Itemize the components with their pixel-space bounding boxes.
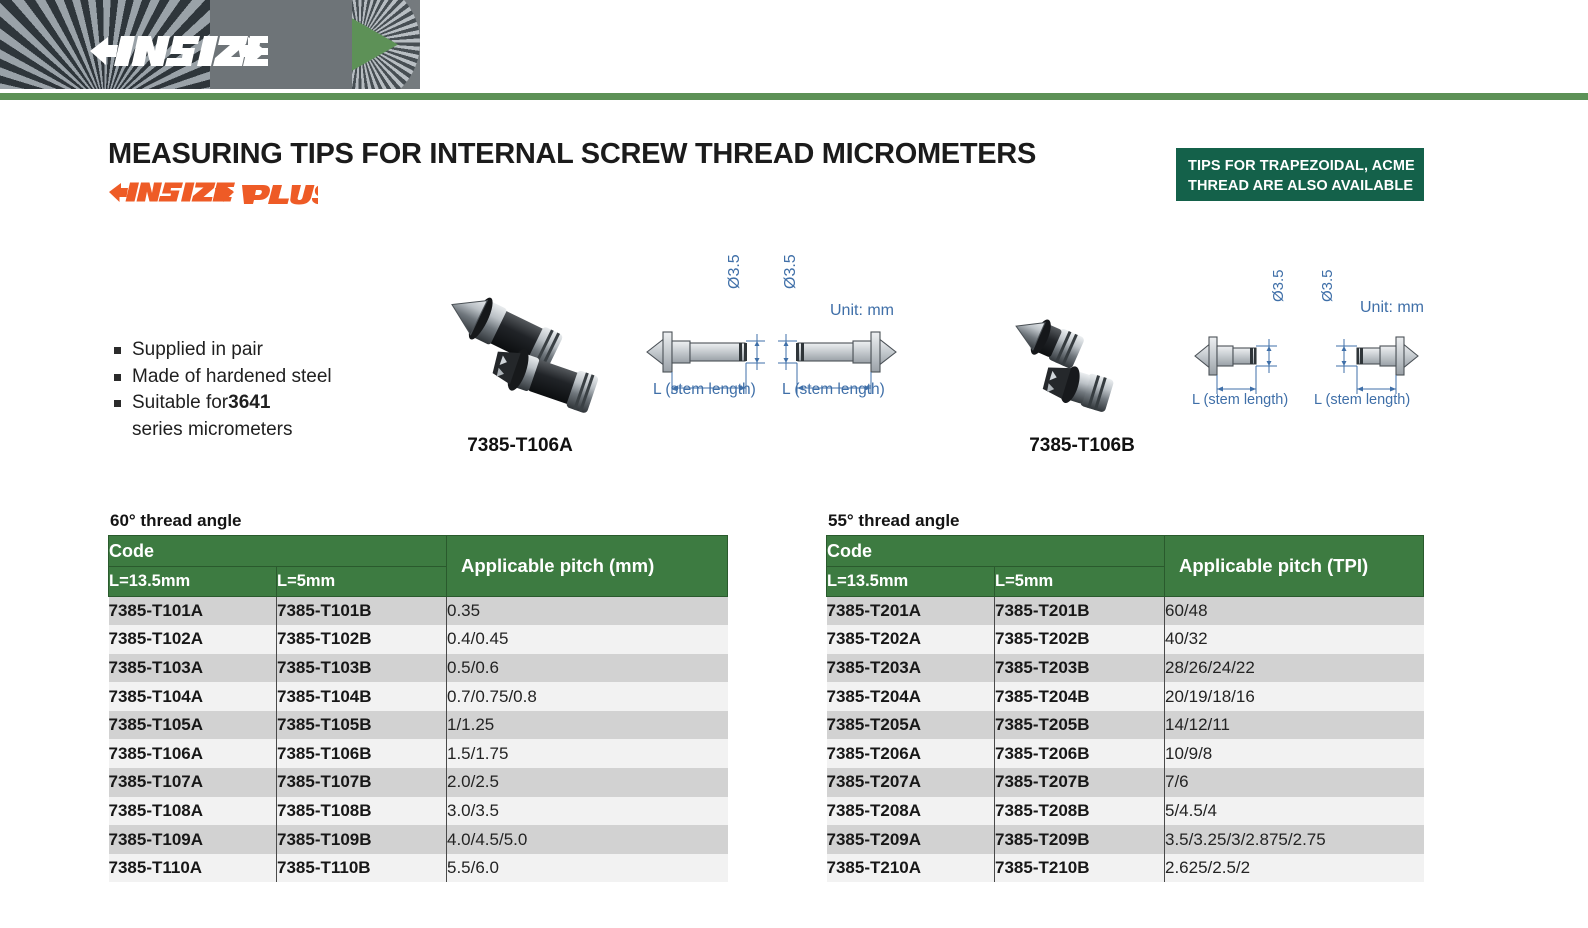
- cell-code-b: 7385-T207B: [995, 768, 1165, 797]
- cell-code-a: 7385-T209A: [827, 825, 995, 854]
- cell-code-b: 7385-T105B: [277, 711, 447, 740]
- cell-pitch: 10/9/8: [1165, 739, 1424, 768]
- table-header-row: Code Applicable pitch (mm): [109, 536, 728, 567]
- product-caption-t106b: 7385-T106B: [952, 435, 1212, 457]
- cell-pitch: 5.5/6.0: [447, 854, 728, 883]
- cell-pitch: 1/1.25: [447, 711, 728, 740]
- table-row[interactable]: 7385-T208A7385-T208B5/4.5/4: [827, 797, 1424, 826]
- cell-code-b: 7385-T110B: [277, 854, 447, 883]
- table-row[interactable]: 7385-T109A7385-T109B4.0/4.5/5.0: [109, 825, 728, 854]
- cell-code-a: 7385-T105A: [109, 711, 277, 740]
- badge-line-2: THREAD ARE ALSO AVAILABLE: [1188, 177, 1424, 197]
- cell-code-b: 7385-T101B: [277, 597, 447, 626]
- product-photo-t106a: [440, 265, 640, 425]
- table-row[interactable]: 7385-T203A7385-T203B28/26/24/22: [827, 654, 1424, 683]
- page-title: MEASURING TIPS FOR INTERNAL SCREW THREAD…: [108, 138, 1036, 171]
- table-row[interactable]: 7385-T108A7385-T108B3.0/3.5: [109, 797, 728, 826]
- badge-line-1: TIPS FOR TRAPEZOIDAL, ACME: [1188, 157, 1424, 177]
- cell-code-b: 7385-T202B: [995, 625, 1165, 654]
- table-row[interactable]: 7385-T207A7385-T207B7/6: [827, 768, 1424, 797]
- cell-code-b: 7385-T210B: [995, 854, 1165, 883]
- cell-code-b: 7385-T208B: [995, 797, 1165, 826]
- header-col-l5: L=5mm: [995, 567, 1165, 597]
- cell-code-a: 7385-T206A: [827, 739, 995, 768]
- table-row[interactable]: 7385-T210A7385-T210B2.625/2.5/2: [827, 854, 1424, 883]
- cell-code-a: 7385-T101A: [109, 597, 277, 626]
- stem-length-label: L (stem length): [1314, 392, 1410, 408]
- cell-pitch: 0.7/0.75/0.8: [447, 682, 728, 711]
- diameter-label: Ø3.5: [1270, 269, 1287, 302]
- diameter-label: Ø3.5: [1319, 269, 1336, 302]
- table-row[interactable]: 7385-T201A7385-T201B60/48: [827, 597, 1424, 626]
- cell-code-a: 7385-T203A: [827, 654, 995, 683]
- feature-text-1: Made of hardened steel: [132, 365, 332, 390]
- cell-pitch: 20/19/18/16: [1165, 682, 1424, 711]
- cell-code-a: 7385-T102A: [109, 625, 277, 654]
- list-item: Made of hardened steel: [110, 365, 332, 390]
- table-row[interactable]: 7385-T110A7385-T110B5.5/6.0: [109, 854, 728, 883]
- cell-code-b: 7385-T203B: [995, 654, 1165, 683]
- cell-code-b: 7385-T102B: [277, 625, 447, 654]
- cell-code-a: 7385-T110A: [109, 854, 277, 883]
- cell-code-b: 7385-T204B: [995, 682, 1165, 711]
- table-body-60: 7385-T101A7385-T101B0.35 7385-T102A7385-…: [109, 597, 728, 883]
- insize-logo: [88, 30, 268, 72]
- unit-label-left: Unit: mm: [830, 302, 894, 320]
- header-col-l5: L=5mm: [277, 567, 447, 597]
- insize-plus-logo: [108, 178, 1036, 204]
- cell-code-a: 7385-T103A: [109, 654, 277, 683]
- table-row[interactable]: 7385-T104A7385-T104B0.7/0.75/0.8: [109, 682, 728, 711]
- table-row[interactable]: 7385-T105A7385-T105B1/1.25: [109, 711, 728, 740]
- cell-code-b: 7385-T106B: [277, 739, 447, 768]
- cell-code-b: 7385-T108B: [277, 797, 447, 826]
- table-body-55: 7385-T201A7385-T201B60/48 7385-T202A7385…: [827, 597, 1424, 883]
- cell-code-a: 7385-T104A: [109, 682, 277, 711]
- feature-text-2: Suitable for: [132, 391, 228, 416]
- cell-code-b: 7385-T205B: [995, 711, 1165, 740]
- cell-pitch: 40/32: [1165, 625, 1424, 654]
- table-row[interactable]: 7385-T102A7385-T102B0.4/0.45: [109, 625, 728, 654]
- header-pitch: Applicable pitch (mm): [447, 536, 728, 597]
- header-code: Code: [827, 536, 1165, 567]
- table-row[interactable]: 7385-T107A7385-T107B2.0/2.5: [109, 768, 728, 797]
- cell-code-a: 7385-T210A: [827, 854, 995, 883]
- table-title-55: 55° thread angle: [828, 511, 1424, 531]
- cell-pitch: 3.5/3.25/3/2.875/2.75: [1165, 825, 1424, 854]
- cell-pitch: 1.5/1.75: [447, 739, 728, 768]
- stem-length-label: L (stem length): [653, 381, 756, 399]
- cell-pitch: 3.0/3.5: [447, 797, 728, 826]
- cell-code-a: 7385-T207A: [827, 768, 995, 797]
- cell-code-a: 7385-T106A: [109, 739, 277, 768]
- page-banner: [0, 0, 1588, 100]
- feature-list: Supplied in pair Made of hardened steel …: [110, 338, 332, 442]
- header-code: Code: [109, 536, 447, 567]
- header-pitch: Applicable pitch (TPI): [1165, 536, 1424, 597]
- cell-pitch: 14/12/11: [1165, 711, 1424, 740]
- table-row[interactable]: 7385-T202A7385-T202B40/32: [827, 625, 1424, 654]
- cell-pitch: 28/26/24/22: [1165, 654, 1424, 683]
- cell-code-a: 7385-T204A: [827, 682, 995, 711]
- banner-green-rule: [0, 93, 1588, 100]
- cell-pitch: 2.625/2.5/2: [1165, 854, 1424, 883]
- diameter-label: Ø3.5: [726, 254, 744, 289]
- cell-pitch: 0.5/0.6: [447, 654, 728, 683]
- product-caption-t106a: 7385-T106A: [390, 435, 650, 457]
- table-row[interactable]: 7385-T103A7385-T103B0.5/0.6: [109, 654, 728, 683]
- feature-series-number: 3641: [228, 391, 270, 416]
- cell-code-b: 7385-T107B: [277, 768, 447, 797]
- spec-table-60: Code Applicable pitch (mm) L=13.5mm L=5m…: [108, 535, 728, 882]
- spec-table-55: Code Applicable pitch (TPI) L=13.5mm L=5…: [826, 535, 1424, 882]
- stem-length-label: L (stem length): [1192, 392, 1288, 408]
- table-55-degree-wrap: 55° thread angle Code Applicable pitch (…: [826, 511, 1424, 882]
- cell-code-b: 7385-T206B: [995, 739, 1165, 768]
- cell-pitch: 5/4.5/4: [1165, 797, 1424, 826]
- cell-pitch: 4.0/4.5/5.0: [447, 825, 728, 854]
- table-row[interactable]: 7385-T206A7385-T206B10/9/8: [827, 739, 1424, 768]
- cell-code-a: 7385-T202A: [827, 625, 995, 654]
- cell-pitch: 60/48: [1165, 597, 1424, 626]
- cell-code-b: 7385-T109B: [277, 825, 447, 854]
- product-photo-t106b: [1010, 300, 1160, 430]
- table-title-60: 60° thread angle: [110, 511, 728, 531]
- cell-code-a: 7385-T107A: [109, 768, 277, 797]
- stem-length-label: L (stem length): [782, 381, 885, 399]
- table-row[interactable]: 7385-T106A7385-T106B1.5/1.75: [109, 739, 728, 768]
- header-col-l135: L=13.5mm: [827, 567, 995, 597]
- table-row[interactable]: 7385-T204A7385-T204B20/19/18/16: [827, 682, 1424, 711]
- bullet-square-icon: [114, 374, 121, 381]
- feature-text-2-continuation: series micrometers: [132, 418, 332, 443]
- cell-code-a: 7385-T201A: [827, 597, 995, 626]
- list-item: Suitable for 3641: [110, 391, 332, 416]
- cell-code-a: 7385-T205A: [827, 711, 995, 740]
- table-row[interactable]: 7385-T209A7385-T209B3.5/3.25/3/2.875/2.7…: [827, 825, 1424, 854]
- cell-code-a: 7385-T208A: [827, 797, 995, 826]
- cell-code-b: 7385-T104B: [277, 682, 447, 711]
- table-60-degree-wrap: 60° thread angle Code Applicable pitch (…: [108, 511, 728, 882]
- cell-code-a: 7385-T109A: [109, 825, 277, 854]
- table-header-row: Code Applicable pitch (TPI): [827, 536, 1424, 567]
- feature-text-0: Supplied in pair: [132, 338, 263, 363]
- cell-code-b: 7385-T103B: [277, 654, 447, 683]
- unit-label-right: Unit: mm: [1360, 299, 1424, 317]
- title-block: MEASURING TIPS FOR INTERNAL SCREW THREAD…: [108, 138, 1036, 204]
- cell-code-a: 7385-T108A: [109, 797, 277, 826]
- cell-code-b: 7385-T201B: [995, 597, 1165, 626]
- availability-badge: TIPS FOR TRAPEZOIDAL, ACME THREAD ARE AL…: [1176, 148, 1424, 201]
- cell-pitch: 0.4/0.45: [447, 625, 728, 654]
- header-col-l135: L=13.5mm: [109, 567, 277, 597]
- table-row[interactable]: 7385-T101A7385-T101B0.35: [109, 597, 728, 626]
- list-item: Supplied in pair: [110, 338, 332, 363]
- diameter-label: Ø3.5: [782, 254, 800, 289]
- table-row[interactable]: 7385-T205A7385-T205B14/12/11: [827, 711, 1424, 740]
- cell-pitch: 0.35: [447, 597, 728, 626]
- cell-pitch: 7/6: [1165, 768, 1424, 797]
- cell-code-b: 7385-T209B: [995, 825, 1165, 854]
- bullet-square-icon: [114, 400, 121, 407]
- bullet-square-icon: [114, 347, 121, 354]
- cell-pitch: 2.0/2.5: [447, 768, 728, 797]
